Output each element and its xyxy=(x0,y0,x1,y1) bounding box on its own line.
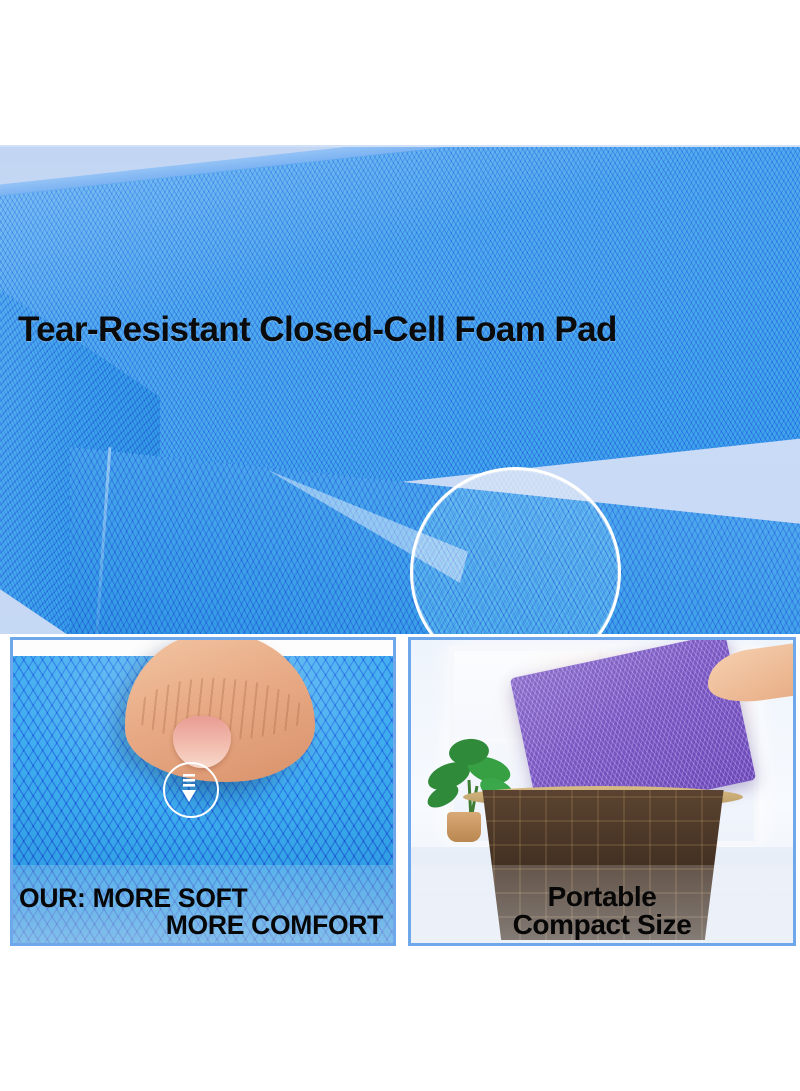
page-title: Tear-Resistant Closed-Cell Foam Pad xyxy=(18,310,617,350)
caption-line-2: Compact Size xyxy=(411,911,793,939)
panel-softness-demo: OUR: MORE SOFT MORE COMFORT xyxy=(10,637,396,946)
thumb-nail xyxy=(173,716,231,768)
caption-line-1: OUR: MORE SOFT xyxy=(19,885,383,912)
magnified-foam-texture xyxy=(413,470,618,634)
marketing-image: Tear-Resistant Closed-Cell Foam Pad Clea… xyxy=(0,0,800,1091)
thumb-pressing xyxy=(125,637,315,782)
portability-caption: Portable Compact Size xyxy=(411,883,793,939)
softness-caption: OUR: MORE SOFT MORE COMFORT xyxy=(13,885,393,939)
press-down-arrow-icon xyxy=(163,762,219,818)
caption-line-1: Portable xyxy=(411,883,793,911)
plant-pot xyxy=(447,812,481,842)
panel-portability-demo: Portable Compact Size xyxy=(408,637,796,946)
caption-line-2: MORE COMFORT xyxy=(19,912,383,939)
panel-foam-pad-hero: Tear-Resistant Closed-Cell Foam Pad Clea… xyxy=(0,145,800,634)
magnifier-circle-icon xyxy=(410,467,621,634)
